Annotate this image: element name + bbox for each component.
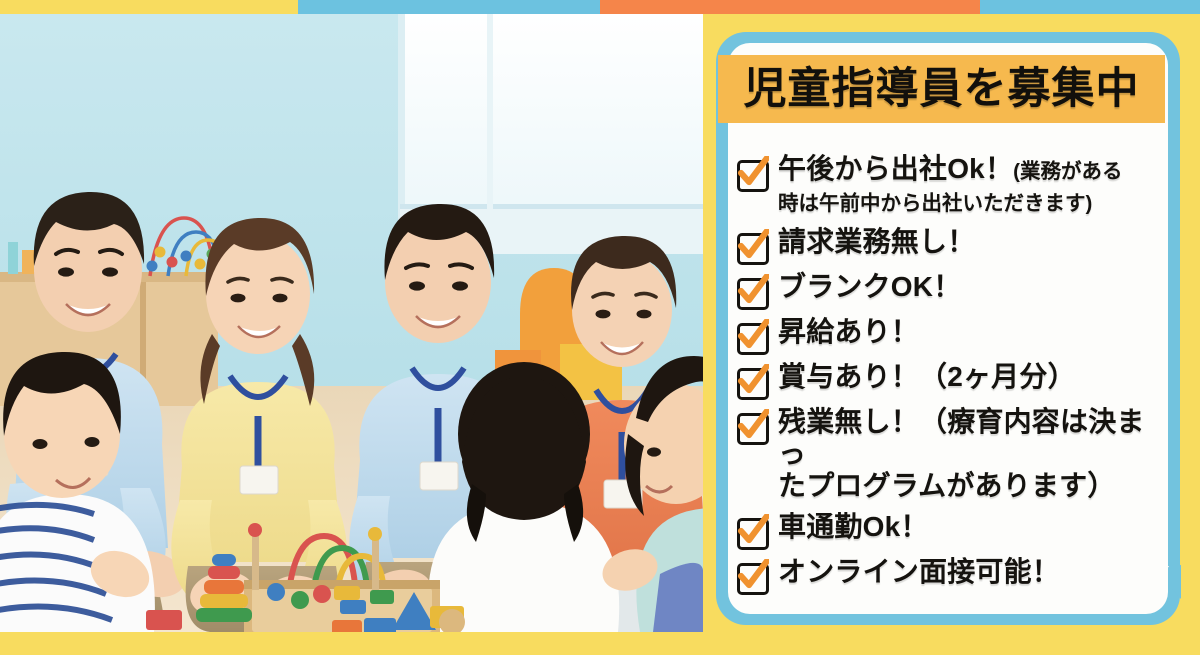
checkbox-checked-icon	[736, 319, 769, 352]
list-item: 賞与あり！（2ヶ月分）	[736, 361, 1168, 397]
list-item-text: オンライン面接可能！	[778, 556, 1060, 588]
list-item: 残業無し！（療育内容は決まったプログラムがあります）	[736, 406, 1168, 502]
title-banner: 児童指導員を募集中	[718, 55, 1165, 123]
checkbox-checked-icon	[736, 409, 769, 442]
list-item: 請求業務無し！	[736, 226, 1168, 262]
classroom-photo	[0, 14, 703, 632]
list-item: 午後から出社Ok！(業務がある時は午前中から出社いただきます)	[736, 153, 1168, 217]
list-item: 昇給あり！	[736, 316, 1168, 352]
list-item-text: 車通勤Ok！	[778, 511, 929, 543]
bottom-yellow-band	[0, 632, 1200, 655]
list-item: オンライン面接可能！	[736, 556, 1168, 592]
item-main: 午後から出社Ok！	[778, 153, 1013, 184]
item-note-line2: 時は午前中から出社いただきます)	[778, 192, 1092, 215]
list-item-text: 請求業務無し！	[778, 226, 975, 258]
strip-segment-orange	[600, 0, 980, 14]
checkbox-checked-icon	[736, 274, 769, 307]
list-item-text: ブランクOK！	[778, 271, 961, 303]
page-title: 児童指導員を募集中	[744, 68, 1140, 111]
strip-segment-blue-1	[298, 0, 600, 14]
list-item: 車通勤Ok！	[736, 511, 1168, 547]
list-item-text: 賞与あり！（2ヶ月分）	[778, 361, 1076, 393]
item-note: (業務がある	[1013, 160, 1122, 183]
list-item-text: 昇給あり！	[778, 316, 919, 348]
checkbox-checked-icon	[736, 559, 769, 592]
benefits-checklist: 午後から出社Ok！(業務がある時は午前中から出社いただきます) 請求業務無し！ …	[736, 153, 1168, 608]
top-color-strip	[0, 0, 1200, 14]
checkbox-checked-icon	[736, 514, 769, 547]
item-main: 残業無し！（療育内容は決まっ	[778, 406, 1145, 469]
checkbox-checked-icon	[736, 364, 769, 397]
item-note-line2: たプログラムがあります）	[778, 470, 1116, 501]
checkbox-checked-icon	[736, 229, 769, 262]
strip-segment-blue-2	[980, 0, 1200, 14]
poster-canvas: 児童指導員を募集中 午後から出社Ok！(業務がある時は午前中から出社いただきます…	[0, 0, 1200, 655]
checkbox-checked-icon	[736, 156, 769, 189]
strip-segment-yellow	[0, 0, 298, 14]
list-item: ブランクOK！	[736, 271, 1168, 307]
list-item-text: 午後から出社Ok！(業務がある時は午前中から出社いただきます)	[778, 153, 1122, 217]
list-item-text: 残業無し！（療育内容は決まったプログラムがあります）	[778, 406, 1168, 502]
